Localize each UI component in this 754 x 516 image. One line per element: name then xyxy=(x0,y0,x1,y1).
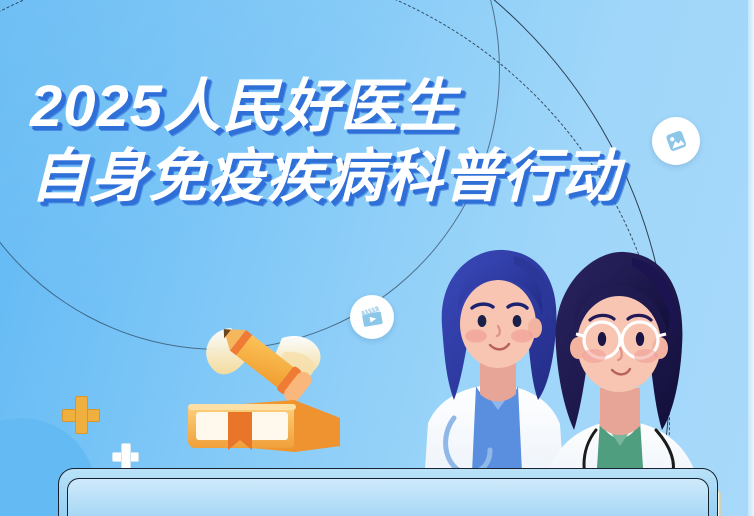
title-line-1: 2025人民好医生 xyxy=(30,78,620,136)
plus-bar-vertical xyxy=(75,396,88,434)
book-icon xyxy=(188,400,340,452)
image-icon xyxy=(661,126,691,156)
plus-bar-vertical xyxy=(121,443,131,470)
pencil-and-book-illustration xyxy=(176,300,356,470)
video-clapperboard-icon xyxy=(358,303,386,331)
title-line-2: 自身免疫疾病科普行动 xyxy=(30,148,620,206)
video-badge[interactable] xyxy=(350,295,394,339)
poster-title: 2025人民好医生 自身免疫疾病科普行动 xyxy=(30,78,620,206)
image-badge[interactable] xyxy=(652,117,700,165)
plus-white-decoration xyxy=(112,443,139,470)
poster-banner: 2025人民好医生 自身免疫疾病科普行动 xyxy=(0,0,754,516)
desk-surface-inner xyxy=(67,478,709,516)
plus-orange-decoration xyxy=(62,396,100,434)
desk-surface xyxy=(58,468,718,516)
